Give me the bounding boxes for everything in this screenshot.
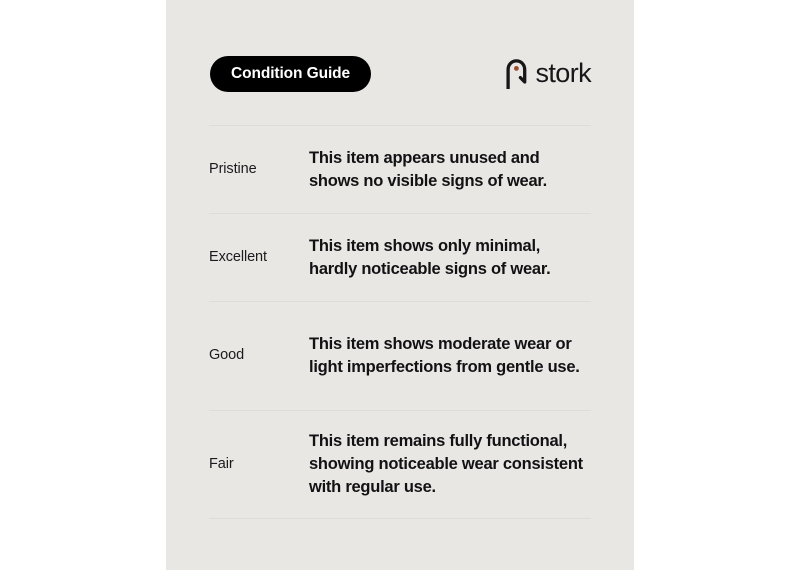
condition-description: This item shows only minimal, hardly not… bbox=[309, 235, 591, 281]
stork-wordmark: stork bbox=[535, 60, 591, 89]
condition-label: Fair bbox=[209, 456, 309, 473]
condition-label: Good bbox=[209, 347, 309, 364]
stork-arch-icon bbox=[505, 59, 528, 89]
condition-description: This item remains fully functional, show… bbox=[309, 430, 591, 498]
table-row: Good This item shows moderate wear or li… bbox=[209, 301, 591, 410]
table-row: Pristine This item appears unused and sh… bbox=[209, 125, 591, 213]
card-header: Condition Guide stork bbox=[166, 52, 634, 96]
condition-description: This item appears unused and shows no vi… bbox=[309, 147, 591, 193]
condition-label: Pristine bbox=[209, 161, 309, 178]
condition-guide-pill[interactable]: Condition Guide bbox=[210, 56, 371, 92]
screenshot-stage: Condition Guide stork Pristine This item… bbox=[0, 0, 800, 570]
table-row: Excellent This item shows only minimal, … bbox=[209, 213, 591, 301]
stork-brand-logo[interactable]: stork bbox=[505, 59, 591, 89]
condition-label: Excellent bbox=[209, 249, 309, 266]
condition-guide-card: Condition Guide stork Pristine This item… bbox=[166, 0, 634, 570]
condition-description: This item shows moderate wear or light i… bbox=[309, 333, 591, 379]
condition-guide-table: Pristine This item appears unused and sh… bbox=[209, 125, 591, 519]
table-row: Fair This item remains fully functional,… bbox=[209, 410, 591, 519]
